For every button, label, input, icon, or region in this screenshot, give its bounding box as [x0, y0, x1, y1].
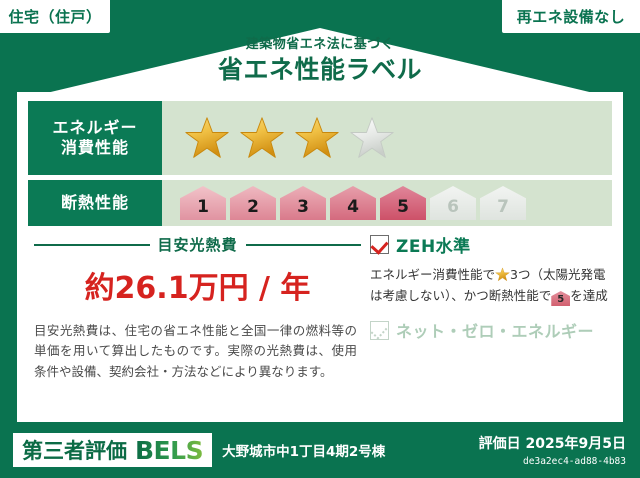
- utility-cost-value: 約26.1万円 / 年: [34, 263, 361, 307]
- rule-left: [34, 244, 150, 246]
- renewable-equipment-tag: 再エネ設備なし: [502, 0, 640, 33]
- zeh-desc-star-count: 3つ（太陽光発電: [510, 267, 605, 282]
- net-zero-energy-row: ネット・ゼロ・エネルギー: [370, 318, 612, 342]
- bels-logo: 第三者評価 BELS: [13, 433, 212, 467]
- evaluation-meta: 評価日 2025年9月5日 de3a2ec4-ad88-4b83: [479, 433, 626, 467]
- insulation-level-inactive: 6: [430, 186, 476, 220]
- energy-label-line1: エネルギー: [52, 118, 137, 138]
- zeh-title: ZEH水準: [396, 232, 471, 257]
- utility-cost-heading-text: 目安光熱費: [158, 234, 238, 255]
- label-card: エネルギー 消費性能 断熱性能 1234567 目安光熱費 約26.1万円 / …: [17, 92, 623, 418]
- energy-performance-label: 住宅（住戸） 再エネ設備なし 建築物省エネ法に基づく 省エネ性能ラベル エネルギ…: [0, 0, 640, 478]
- insulation-level-scale: 1234567: [162, 180, 612, 226]
- inline-level-badge: 5: [551, 291, 570, 306]
- roof-shape: [17, 28, 623, 100]
- insulation-performance-row: 断熱性能 1234567: [28, 180, 612, 226]
- property-address: 大野城市中1丁目4期2号棟: [222, 440, 385, 460]
- insulation-performance-label-box: 断熱性能: [28, 180, 162, 226]
- insulation-label-line1: 断熱性能: [61, 193, 129, 213]
- zeh-checkbox-checked-icon: [370, 235, 389, 254]
- utility-cost-note: 目安光熱費は、住宅の省エネ性能と全国一律の燃料等の単価を用いて算出したものです。…: [34, 321, 361, 382]
- zeh-heading: ZEH水準: [370, 232, 612, 257]
- insulation-level-active: 5: [380, 186, 426, 220]
- evaluation-id: de3a2ec4-ad88-4b83: [479, 456, 626, 467]
- insulation-level-active: 2: [230, 186, 276, 220]
- star-filled-icon: [294, 115, 340, 161]
- evaluation-date: 評価日 2025年9月5日: [479, 433, 626, 453]
- star-empty-icon: [349, 115, 395, 161]
- utility-cost-heading: 目安光熱費: [34, 234, 361, 255]
- utility-cost-section: 目安光熱費 約26.1万円 / 年 目安光熱費は、住宅の省エネ性能と全国一律の燃…: [28, 232, 361, 382]
- zeh-desc-part3: を達成: [570, 288, 608, 303]
- lower-section: 目安光熱費 約26.1万円 / 年 目安光熱費は、住宅の省エネ性能と全国一律の燃…: [28, 232, 612, 382]
- bels-wordmark: BELS: [135, 436, 203, 465]
- building-type-tag: 住宅（住戸）: [0, 0, 110, 33]
- insulation-level-inactive: 7: [480, 186, 526, 220]
- zeh-desc-part2: は考慮しない）、かつ断熱性能で: [370, 288, 551, 303]
- rule-right: [246, 244, 362, 246]
- zeh-desc-part1: エネルギー消費性能で: [370, 267, 495, 282]
- zeh-description: エネルギー消費性能で3つ（太陽光発電は考慮しない）、かつ断熱性能で5を達成: [370, 264, 612, 306]
- star-rating: [162, 101, 612, 175]
- nze-checkbox-unchecked-icon: [370, 321, 389, 340]
- insulation-level-active: 3: [280, 186, 326, 220]
- insulation-level-active: 4: [330, 186, 376, 220]
- footer-bar: 第三者評価 BELS 大野城市中1丁目4期2号棟 評価日 2025年9月5日 d…: [0, 422, 640, 478]
- energy-performance-label-box: エネルギー 消費性能: [28, 101, 162, 175]
- star-filled-icon: [239, 115, 285, 161]
- inline-star-icon: [495, 267, 510, 282]
- nze-label: ネット・ゼロ・エネルギー: [396, 318, 594, 342]
- bels-third-party-text: 第三者評価: [22, 435, 127, 465]
- zeh-section: ZEH水準 エネルギー消費性能で3つ（太陽光発電は考慮しない）、かつ断熱性能で5…: [361, 232, 612, 382]
- energy-label-line2: 消費性能: [61, 138, 129, 158]
- star-filled-icon: [184, 115, 230, 161]
- energy-performance-row: エネルギー 消費性能: [28, 101, 612, 175]
- insulation-level-active: 1: [180, 186, 226, 220]
